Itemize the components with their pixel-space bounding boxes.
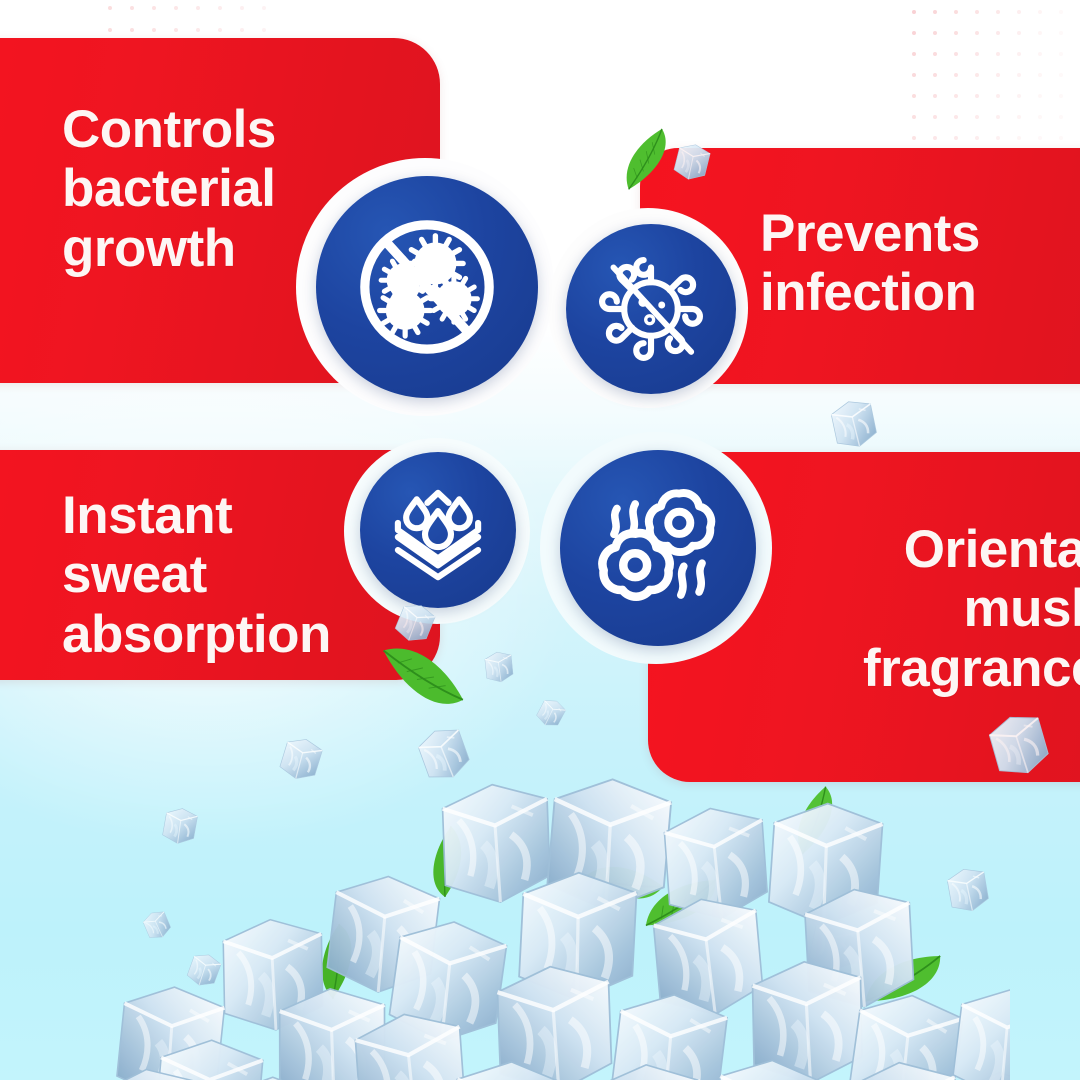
ice-cube <box>986 712 1052 778</box>
benefit-line-1: Instant <box>62 486 382 545</box>
benefit-line-2: sweat <box>62 545 382 604</box>
no-virus-icon <box>566 224 736 394</box>
benefit-line-1: Prevents <box>760 204 1080 263</box>
benefit-text-oriental-musk-fragrance: Oriental musk fragrance <box>770 520 1080 698</box>
benefit-line-3: fragrance <box>770 639 1080 698</box>
flower-fragrance-icon <box>560 450 756 646</box>
infographic-canvas: Controls bacterial growth Prevents infec… <box>0 0 1080 1080</box>
ice-cube-pile <box>90 770 1010 1080</box>
benefit-line-1: Controls <box>62 100 392 159</box>
ice-cube <box>482 650 516 684</box>
benefit-line-2: musk <box>770 579 1080 638</box>
water-absorption-layers-icon <box>360 452 516 608</box>
ice-cube <box>672 142 712 182</box>
benefit-text-instant-sweat-absorption: Instant sweat absorption <box>62 486 382 664</box>
ice-cube <box>828 398 880 450</box>
ice-cube <box>536 698 566 728</box>
benefit-line-1: Oriental <box>770 520 1080 579</box>
benefit-line-3: absorption <box>62 605 382 664</box>
no-bacteria-icon <box>316 176 538 398</box>
benefit-line-2: infection <box>760 263 1080 322</box>
benefit-text-prevents-infection: Prevents infection <box>760 204 1080 323</box>
ice-cube <box>394 602 436 644</box>
